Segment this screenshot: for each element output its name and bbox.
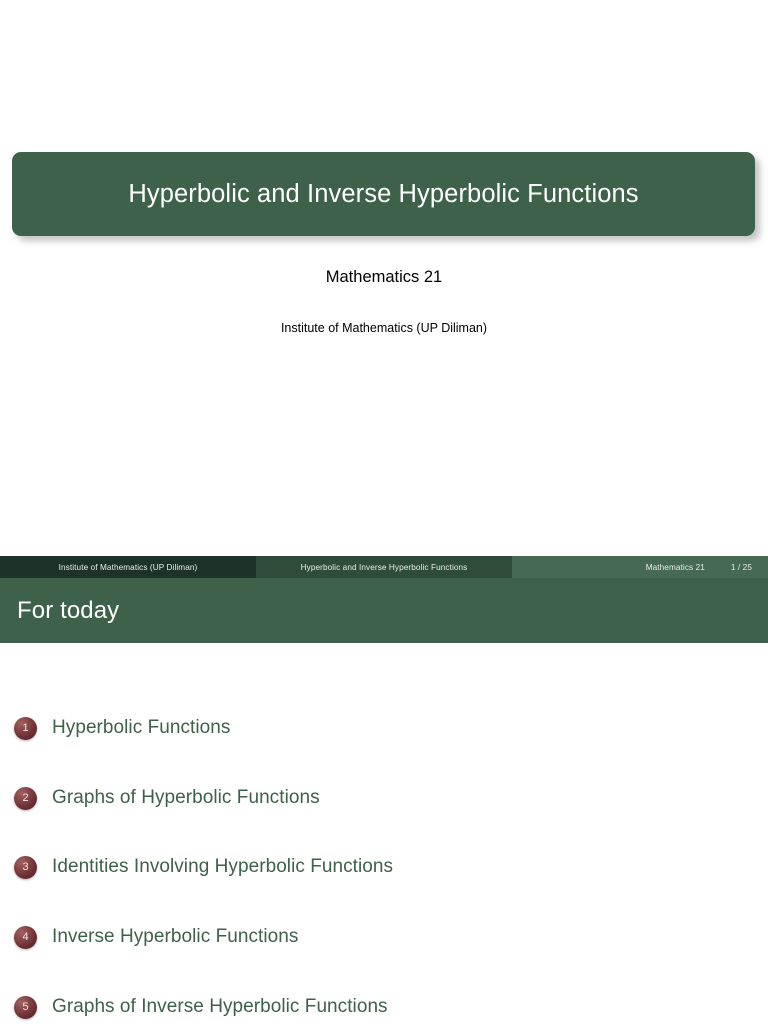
numbered-circle-icon: 5 [14,996,37,1019]
numbered-circle-icon: 3 [14,856,37,879]
title-banner: Hyperbolic and Inverse Hyperbolic Functi… [12,152,755,236]
presentation-title: Hyperbolic and Inverse Hyperbolic Functi… [128,180,638,208]
toc-label: Identities Involving Hyperbolic Function… [52,856,393,878]
frame-title: For today [0,597,119,625]
course-subtitle: Mathematics 21 [0,268,768,287]
toc-entry-2[interactable]: 2 Graphs of Hyperbolic Functions [14,785,320,811]
numbered-circle-icon: 4 [14,926,37,949]
toc-number: 2 [22,793,28,804]
footer-meta-segment[interactable]: Mathematics 21 1 / 25 [512,556,768,578]
numbered-circle-icon: 2 [14,787,37,810]
footer-course-label: Mathematics 21 [646,563,705,572]
footer-title-label: Hyperbolic and Inverse Hyperbolic Functi… [301,563,468,572]
toc-number: 5 [22,1002,28,1013]
title-slide: Hyperbolic and Inverse Hyperbolic Functi… [0,0,768,578]
footer-author-segment[interactable]: Institute of Mathematics (UP Diliman) [0,556,256,578]
toc-number: 4 [22,932,28,943]
outline-slide: For today 1 Hyperbolic Functions 2 Graph… [0,578,768,1024]
toc-label: Hyperbolic Functions [52,717,230,739]
toc-number: 1 [22,723,28,734]
toc-entry-1[interactable]: 1 Hyperbolic Functions [14,715,230,741]
toc-label: Inverse Hyperbolic Functions [52,926,298,948]
toc-entry-4[interactable]: 4 Inverse Hyperbolic Functions [14,924,298,950]
toc-entry-5[interactable]: 5 Graphs of Inverse Hyperbolic Functions [14,994,388,1020]
toc-label: Graphs of Inverse Hyperbolic Functions [52,996,388,1018]
toc-number: 3 [22,862,28,873]
toc-label: Graphs of Hyperbolic Functions [52,787,320,809]
footer-page-number: 1 / 25 [731,563,752,572]
slide-footer-bar: Institute of Mathematics (UP Diliman) Hy… [0,556,768,578]
footer-author-label: Institute of Mathematics (UP Diliman) [59,563,198,572]
numbered-circle-icon: 1 [14,717,37,740]
footer-title-segment[interactable]: Hyperbolic and Inverse Hyperbolic Functi… [256,556,512,578]
institute-subtitle: Institute of Mathematics (UP Diliman) [0,321,768,335]
frame-title-bar: For today [0,578,768,643]
toc-entry-3[interactable]: 3 Identities Involving Hyperbolic Functi… [14,854,393,880]
